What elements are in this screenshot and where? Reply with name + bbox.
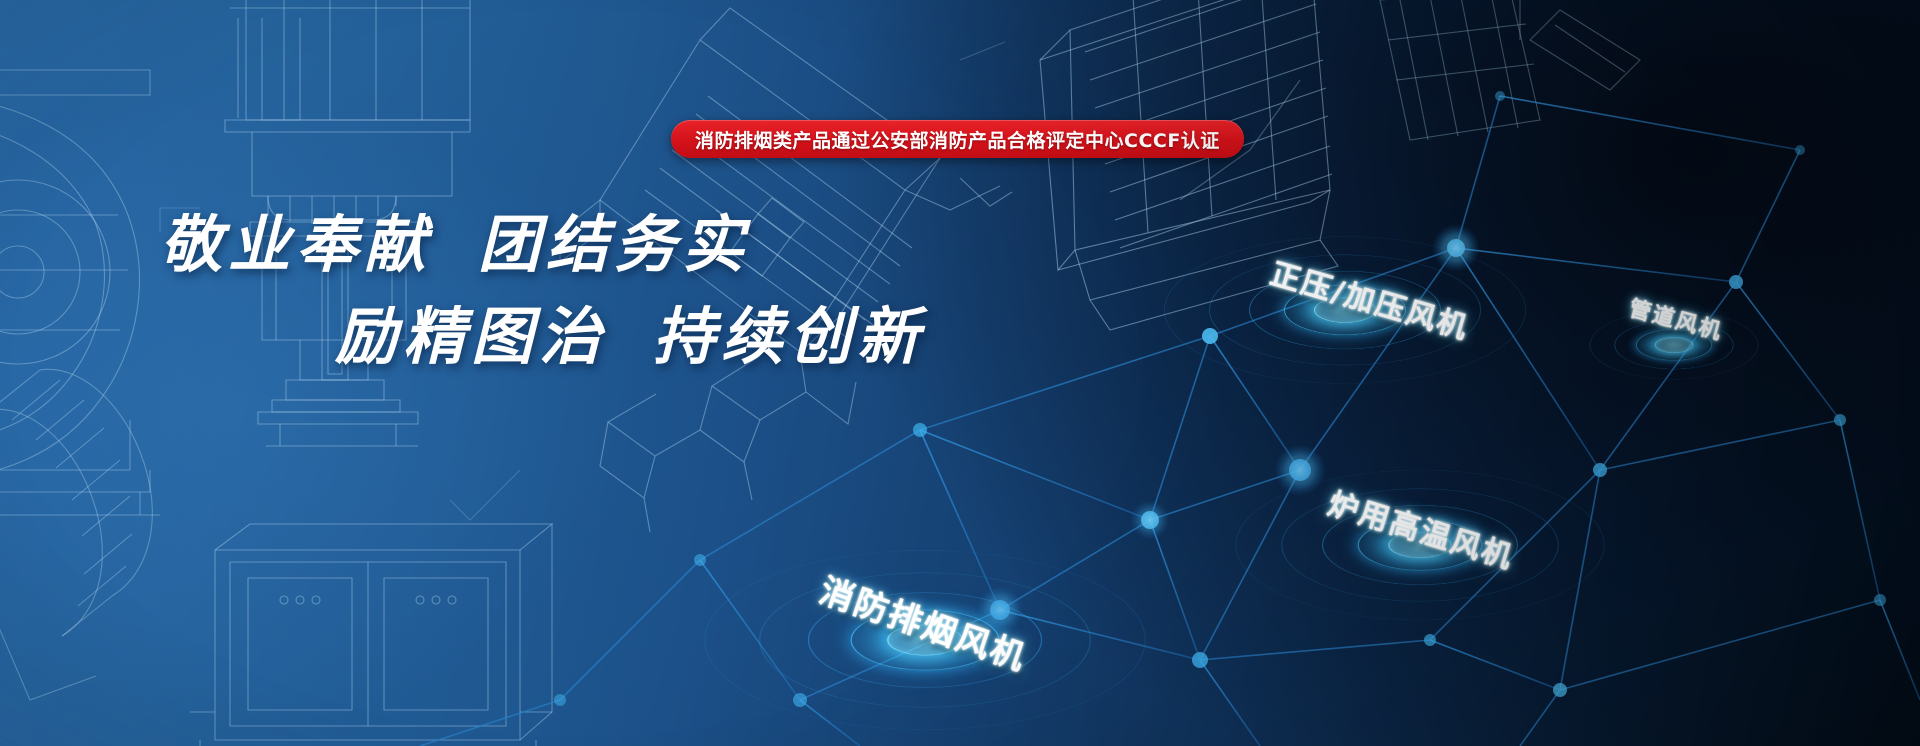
product-label-pressurization-fan[interactable]: 正压/加压风机 [1266,249,1475,348]
blueprint-frame-rails [1180,0,1640,200]
slogan-line-1: 敬业奉献团结务实 [160,214,920,276]
slogan-line2-part2: 持续创新 [653,300,925,373]
product-label-smoke-exhaust-fan[interactable]: 消防排烟风机 [814,563,1034,680]
certification-text: 消防排烟类产品通过公安部消防产品合格评定中心CCCF认证 [695,126,1220,153]
product-label-high-temp-fan[interactable]: 炉用高温风机 [1324,479,1520,577]
network-edges [420,96,1920,746]
blueprint-ahu-cabinet [190,524,552,746]
slogan-line2-part1: 励精图治 [335,300,607,373]
certification-banner[interactable]: 消防排烟类产品通过公安部消防产品合格评定中心CCCF认证 [671,120,1244,158]
blueprint-centrifugal-fan [0,70,160,515]
network-nodes [554,91,1886,707]
ripple-ring-1 [1655,337,1693,353]
slogan-line1-part1: 敬业奉献 [160,208,432,281]
slogan-line1-part2: 团结务实 [478,208,750,281]
slogan-block: 敬业奉献团结务实 励精图治持续创新 [160,214,920,368]
blueprint-axial-fan-barrel [0,369,152,740]
product-label-duct-fan[interactable]: 管道风机 [1626,291,1727,347]
slogan-line-2: 励精图治持续创新 [335,306,920,368]
hero-banner: 正压/加压风机 管道风机 炉用高温风机 消防排烟风机 敬业奉献团结务实 励精图治… [0,0,1920,746]
